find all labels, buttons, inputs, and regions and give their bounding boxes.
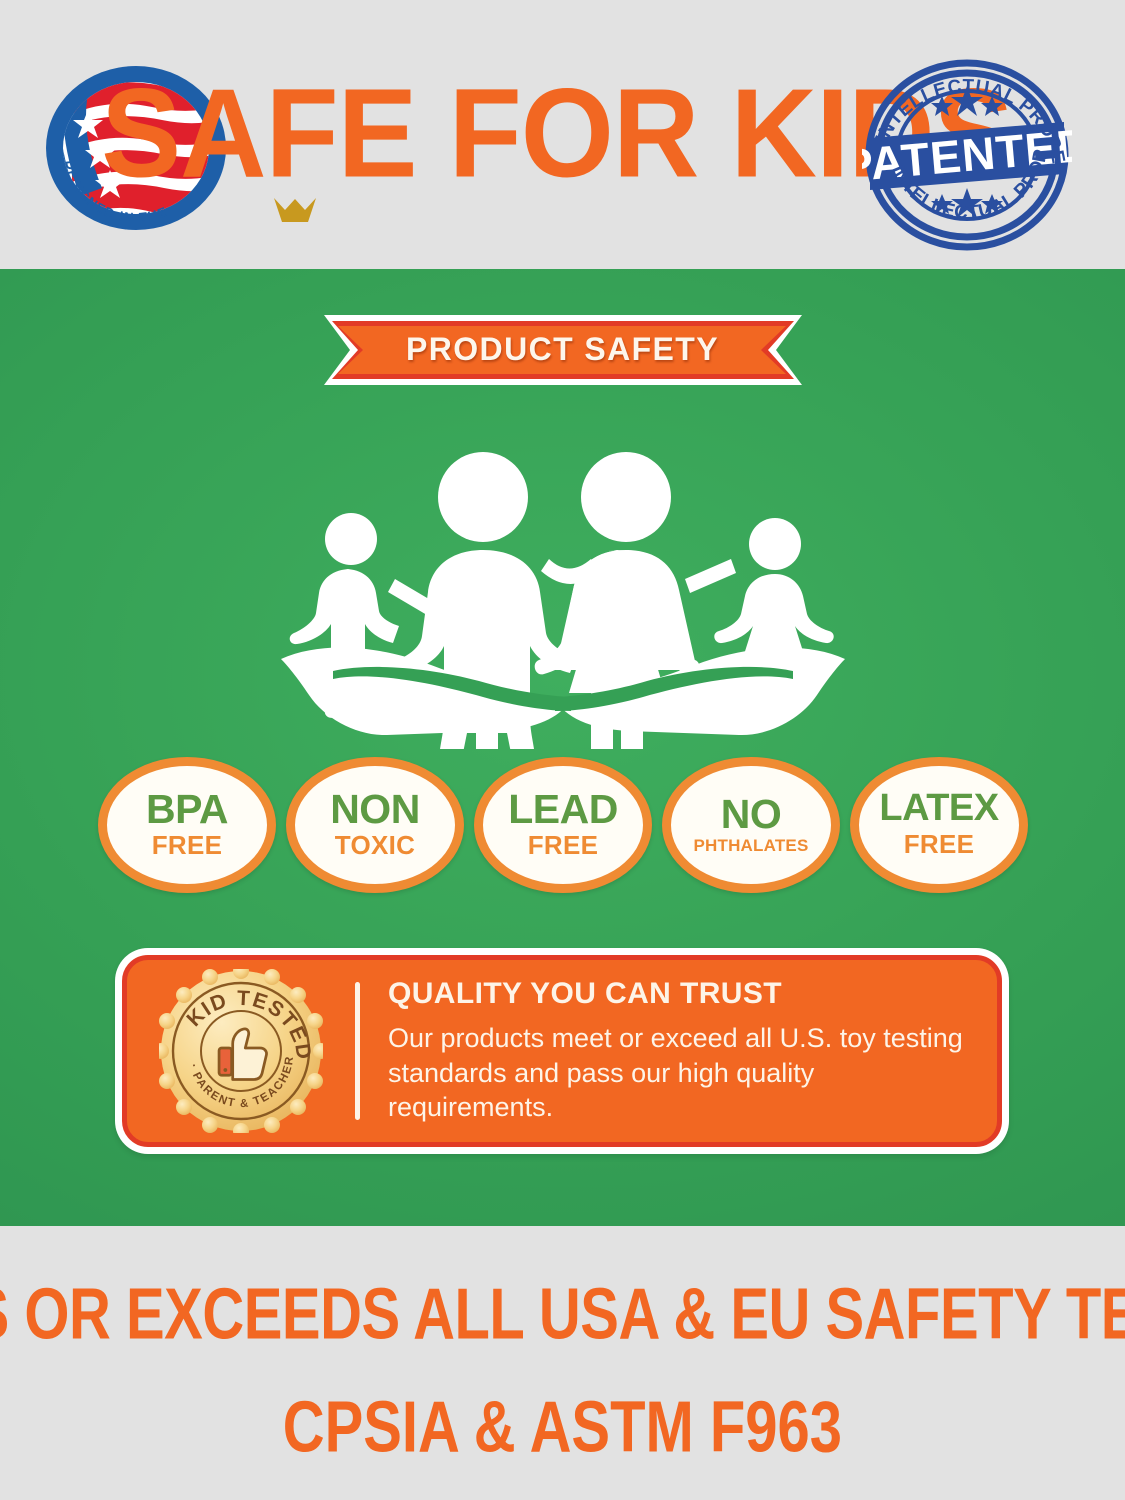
- kid-tested-seal-slot: KID TESTED · PARENT & TEACHER APPROVED ·: [127, 960, 355, 1142]
- ribbon-label: PRODUCT SAFETY: [318, 309, 808, 391]
- product-safety-infographic: DESIGNED IN THE U.S.A. SAFE FOR KIDS: [0, 0, 1125, 1500]
- badge-top-text: NO: [721, 794, 782, 834]
- family-in-hands-illustration: [273, 419, 853, 749]
- badge-top-text: LEAD: [508, 789, 618, 829]
- badge-bpa-free[interactable]: BPA FREE: [98, 757, 276, 893]
- crown-icon: [272, 196, 318, 226]
- quality-title: QUALITY YOU CAN TRUST: [388, 977, 973, 1011]
- badge-bottom-text: FREE: [152, 831, 223, 861]
- quality-body: Our products meet or exceed all U.S. toy…: [388, 1021, 973, 1125]
- badge-latex-free[interactable]: LATEX FREE: [850, 757, 1028, 893]
- badge-bottom-text: FREE: [528, 831, 599, 861]
- badge-bottom-text: TOXIC: [335, 831, 415, 861]
- footer-line-2: CPSIA & ASTM F963: [283, 1392, 842, 1464]
- patented-stamp-icon: PATENTED INTELLECTUAL PROPERTY: [862, 56, 1072, 254]
- badge-top-text: NON: [330, 789, 420, 829]
- main-green-panel: PRODUCT SAFETY: [0, 269, 1125, 1226]
- header-bar: DESIGNED IN THE U.S.A. SAFE FOR KIDS: [0, 0, 1125, 269]
- quality-text-block: QUALITY YOU CAN TRUST Our products meet …: [388, 977, 997, 1125]
- safety-badges-row: BPA FREE NON TOXIC LEAD FREE NO PHTHALAT…: [98, 756, 1028, 894]
- badge-bottom-text: FREE: [904, 830, 975, 860]
- badge-top-text: LATEX: [879, 790, 998, 827]
- badge-non-toxic[interactable]: NON TOXIC: [286, 757, 464, 893]
- badge-bottom-text: PHTHALATES: [693, 836, 808, 856]
- page-title: SAFE FOR KIDS: [262, 58, 852, 208]
- footer-bar: MEETS OR EXCEEDS ALL USA & EU SAFETY TES…: [0, 1226, 1125, 1500]
- panel-divider: [355, 982, 360, 1120]
- product-safety-ribbon: PRODUCT SAFETY: [318, 309, 808, 391]
- badge-no-phthalates[interactable]: NO PHTHALATES: [662, 757, 840, 893]
- footer-line-1: MEETS OR EXCEEDS ALL USA & EU SAFETY TES…: [0, 1279, 1125, 1351]
- kid-tested-seal-icon: KID TESTED · PARENT & TEACHER APPROVED ·: [159, 969, 323, 1133]
- badge-top-text: BPA: [146, 789, 228, 829]
- badge-lead-free[interactable]: LEAD FREE: [474, 757, 652, 893]
- quality-you-can-trust-panel: KID TESTED · PARENT & TEACHER APPROVED ·: [122, 955, 1002, 1147]
